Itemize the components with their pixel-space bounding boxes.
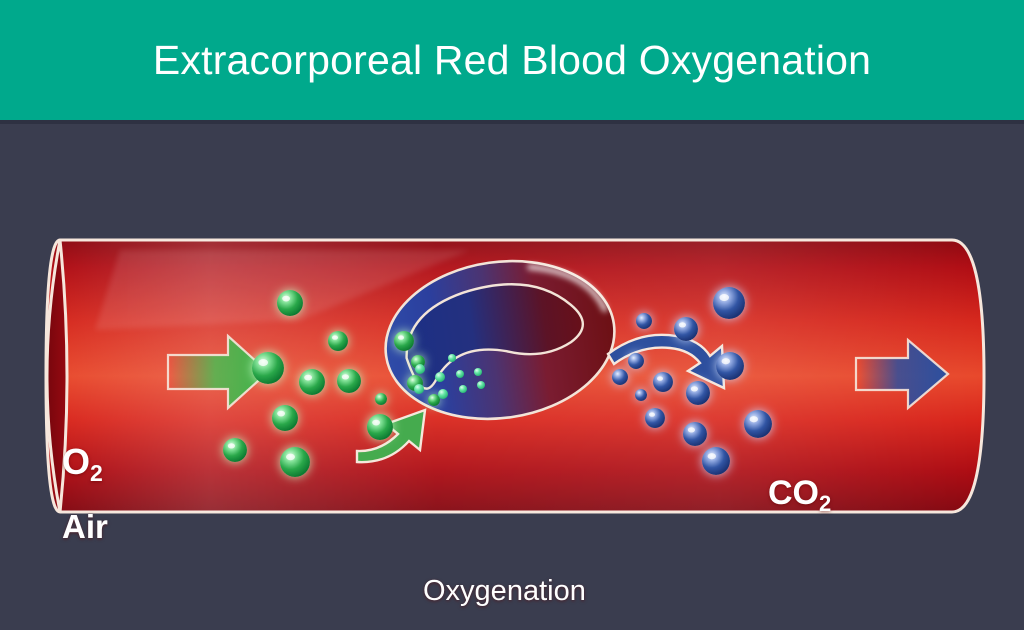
co2-molecule xyxy=(702,447,730,475)
oxygen-molecule-highlight xyxy=(277,411,285,417)
co2-molecule xyxy=(744,410,772,438)
internal-oxygen-dot xyxy=(474,368,482,376)
co2-molecule-highlight xyxy=(708,453,716,459)
oxygen-molecule xyxy=(394,331,414,351)
oxygen-molecule xyxy=(272,405,298,431)
oxygen-molecule-highlight xyxy=(342,374,349,379)
oxygen-molecule xyxy=(252,352,284,384)
oxygen-molecule xyxy=(375,393,387,405)
oxygen-molecule xyxy=(428,394,440,406)
oxygen-molecule-highlight xyxy=(228,443,235,448)
internal-oxygen-dot xyxy=(456,370,464,378)
oxygen-molecule-highlight xyxy=(398,335,404,339)
co2-molecule-highlight xyxy=(722,358,730,364)
co2-molecule xyxy=(612,369,628,385)
oxygen-molecule-highlight xyxy=(304,375,312,381)
internal-oxygen-dot xyxy=(438,389,448,399)
internal-oxygen-dot xyxy=(435,372,445,382)
oxygen-molecule xyxy=(223,438,247,462)
co2-molecule-highlight xyxy=(679,322,686,327)
co2-molecule-highlight xyxy=(691,386,698,391)
oxygen-molecule-highlight xyxy=(332,335,338,339)
co2-molecule xyxy=(713,287,745,319)
internal-oxygen-dot xyxy=(459,385,467,393)
co2-molecule xyxy=(686,381,710,405)
oxygen-molecule-highlight xyxy=(372,420,380,426)
internal-oxygen-dot xyxy=(414,384,424,394)
oxygen-molecule xyxy=(277,290,303,316)
co2-molecule xyxy=(683,422,707,446)
co2-molecule-highlight xyxy=(688,427,695,432)
illustration-root: Extracorporeal Red Blood Oxygenation xyxy=(0,0,1024,630)
oxygen-molecule-highlight xyxy=(286,454,295,461)
co2-molecule-highlight xyxy=(750,416,758,422)
oxygen-molecule-highlight xyxy=(282,296,290,302)
co2-molecule xyxy=(628,353,644,369)
oxygen-molecule xyxy=(337,369,361,393)
co2-molecule-highlight xyxy=(657,376,663,380)
oxygen-molecule xyxy=(299,369,325,395)
diagram-canvas: O2 Air CO2 Oxygenation xyxy=(0,124,1024,630)
oxygen-molecule xyxy=(367,414,393,440)
co2-molecule xyxy=(674,317,698,341)
page-title: Extracorporeal Red Blood Oxygenation xyxy=(153,37,871,84)
co2-molecule-highlight xyxy=(719,294,729,301)
diagram-svg xyxy=(0,124,1024,630)
co2-molecule xyxy=(653,372,673,392)
oxygen-molecule xyxy=(280,447,310,477)
oxygen-molecule xyxy=(328,331,348,351)
co2-molecule-highlight xyxy=(649,412,655,416)
internal-oxygen-dot xyxy=(448,354,456,362)
co2-molecule xyxy=(636,313,652,329)
co2-molecule xyxy=(716,352,744,380)
co2-molecule xyxy=(645,408,665,428)
internal-oxygen-dot xyxy=(415,364,425,374)
oxygen-molecule-highlight xyxy=(258,359,268,366)
co2-molecule xyxy=(635,389,647,401)
header-banner: Extracorporeal Red Blood Oxygenation xyxy=(0,0,1024,120)
internal-oxygen-dot xyxy=(477,381,485,389)
